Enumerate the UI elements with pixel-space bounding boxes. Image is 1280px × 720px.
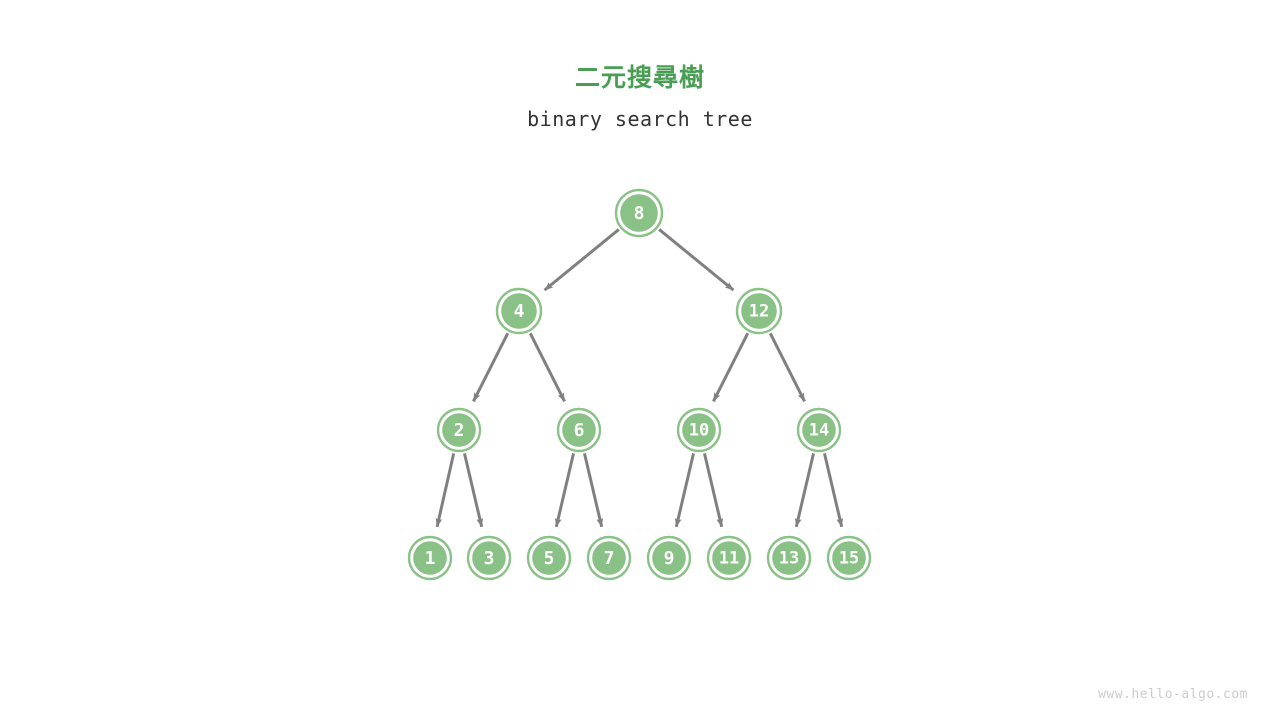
tree-nodes: 841226101413579111315 <box>409 190 870 579</box>
tree-node-13[interactable]: 13 <box>768 537 810 579</box>
tree-edge <box>584 453 601 526</box>
tree-node-2[interactable]: 2 <box>438 409 480 451</box>
tree-node-1[interactable]: 1 <box>409 537 451 579</box>
tree-node-3[interactable]: 3 <box>468 537 510 579</box>
tree-edge <box>530 333 564 401</box>
tree-edge <box>713 333 747 401</box>
tree-node-14[interactable]: 14 <box>798 409 840 451</box>
tree-edge <box>545 229 619 290</box>
node-value-label: 4 <box>514 301 525 322</box>
tree-node-11[interactable]: 11 <box>708 537 750 579</box>
node-value-label: 14 <box>809 421 829 441</box>
tree-edges <box>437 229 842 526</box>
tree-node-7[interactable]: 7 <box>588 537 630 579</box>
tree-edge <box>659 229 733 290</box>
tree-node-6[interactable]: 6 <box>558 409 600 451</box>
tree-node-10[interactable]: 10 <box>678 409 720 451</box>
tree-node-12[interactable]: 12 <box>737 289 781 333</box>
node-value-label: 13 <box>779 549 799 569</box>
node-value-label: 2 <box>454 420 465 441</box>
node-value-label: 3 <box>484 548 495 569</box>
tree-edge <box>473 333 507 401</box>
tree-node-9[interactable]: 9 <box>648 537 690 579</box>
node-value-label: 11 <box>719 549 739 569</box>
tree-edge <box>796 453 813 526</box>
node-value-label: 10 <box>689 421 709 441</box>
tree-edge <box>676 453 693 526</box>
watermark: www.hello-algo.com <box>1098 687 1248 702</box>
node-value-label: 7 <box>604 548 615 569</box>
node-value-label: 5 <box>544 548 555 569</box>
tree-edge <box>464 453 481 526</box>
tree-node-15[interactable]: 15 <box>828 537 870 579</box>
node-value-label: 12 <box>749 302 769 322</box>
binary-search-tree-diagram: 841226101413579111315 <box>0 0 1280 720</box>
tree-node-8[interactable]: 8 <box>616 190 662 236</box>
node-value-label: 1 <box>425 548 436 569</box>
tree-edge <box>770 333 804 401</box>
node-value-label: 6 <box>574 420 585 441</box>
node-value-label: 8 <box>634 203 645 224</box>
tree-node-4[interactable]: 4 <box>497 289 541 333</box>
tree-edge <box>704 453 721 526</box>
tree-edge <box>437 453 454 526</box>
node-value-label: 15 <box>839 549 859 569</box>
node-value-label: 9 <box>664 548 675 569</box>
tree-node-5[interactable]: 5 <box>528 537 570 579</box>
tree-edge <box>556 453 573 526</box>
tree-edge <box>824 453 841 526</box>
